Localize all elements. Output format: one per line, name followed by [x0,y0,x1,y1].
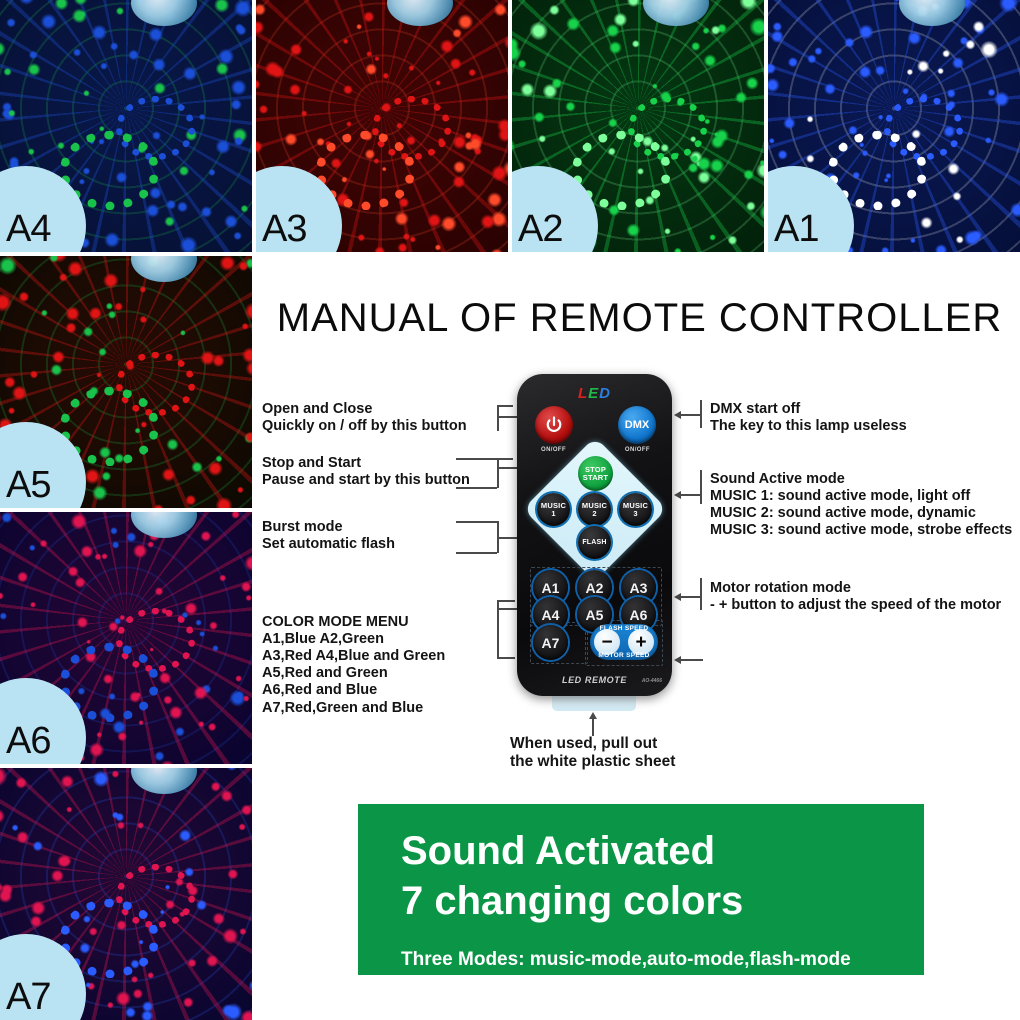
led-logo: LED [517,385,672,402]
connector-line [456,458,513,460]
annotation-heading: Open and Close [262,401,467,418]
connector-line [456,552,497,554]
annotation-detail: MUSIC 2: sound active mode, dynamic [710,505,1012,522]
power-caption: ON/OFF [541,447,566,453]
connector-line [681,659,703,661]
flash-button[interactable]: FLASH [578,526,611,559]
annotation-detail: - + button to adjust the speed of the mo… [710,597,1001,614]
color-mode-line: A1,Blue A2,Green [262,631,445,648]
dmx-caption: ON/OFF [625,447,650,453]
dmx-button[interactable]: DMX [618,406,656,444]
connector-arrow [674,656,681,664]
connector-arrow [674,411,681,419]
connector-line [497,600,515,602]
color-mode-line: A3,Red A4,Blue and Green [262,648,445,665]
connector-line [497,657,515,659]
power-button[interactable] [535,406,573,444]
caption-line: the white plastic sheet [510,753,675,771]
annotation-heading: DMX start off [710,401,907,418]
caption-line: When used, pull out [510,735,675,753]
music-2-button[interactable]: MUSIC 2 [578,493,611,526]
promo-banner: Sound Activated 7 changing colors Three … [358,804,924,975]
connector-line [456,487,497,489]
connector-line [700,400,702,428]
speed-control-group: FLASH SPEED − + MOTOR SPEED [590,624,658,660]
connector-line [681,596,700,598]
annotation-sound-active: Sound Active mode MUSIC 1: sound active … [710,471,1012,539]
connector-arrow [589,712,597,719]
power-icon [544,415,564,435]
connector-line [592,718,594,736]
annotation-motor-rotation: Motor rotation mode - + button to adjust… [710,580,1001,614]
photo-tile-a6: A6 [0,512,252,764]
connector-line [456,521,497,523]
music-number: 2 [592,510,596,518]
led-logo-l: L [578,385,588,402]
photo-tile-a7: A7 [0,768,252,1020]
music-3-button[interactable]: MUSIC 3 [619,493,652,526]
annotation-detail: Quickly on / off by this button [262,418,467,435]
pull-out-sheet-caption: When used, pull out the white plastic sh… [510,735,675,772]
connector-line [497,416,519,418]
tile-badge-label: A4 [6,210,50,248]
remote-control: LED ON/OFF DMX ON/OFF STOP START MUSIC 1… [517,374,672,696]
color-mode-line: A6,Red and Blue [262,682,445,699]
annotation-detail: Set automatic flash [262,536,395,553]
annotation-detail: MUSIC 3: sound active mode, strobe effec… [710,522,1012,539]
motor-speed-label: MOTOR SPEED [590,652,658,659]
led-logo-e: E [588,385,599,402]
connector-line [681,494,700,496]
remote-model-number: AO-4466 [642,678,662,684]
connector-arrow [674,491,681,499]
photo-tile-a1: A1 [768,0,1020,252]
color-mode-line: A5,Red and Green [262,665,445,682]
annotation-detail: Pause and start by this button [262,472,470,489]
connector-line [497,608,519,610]
music-number: 1 [551,510,555,518]
music-1-button[interactable]: MUSIC 1 [537,493,570,526]
photo-tile-a3: A3 [256,0,508,252]
page-title: MANUAL OF REMOTE CONTROLLER [262,296,1017,341]
connector-line [497,458,499,488]
annotation-open-close: Open and Close Quickly on / off by this … [262,401,467,435]
banner-line-3: Three Modes: music-mode,auto-mode,flash-… [401,949,851,971]
connector-line [700,470,702,504]
annotation-stop-start: Stop and Start Pause and start by this b… [262,455,470,489]
annotation-detail: MUSIC 1: sound active mode, light off [710,488,1012,505]
photo-tile-a4: A4 [0,0,252,252]
connector-line [497,405,499,431]
color-mode-menu-heading: COLOR MODE MENU [262,614,445,631]
annotation-heading: Motor rotation mode [710,580,1001,597]
photo-tile-a5: A5 [0,256,252,508]
connector-arrow [674,593,681,601]
tile-badge-label: A7 [6,978,50,1016]
led-logo-d: D [599,385,611,402]
connector-line [700,578,702,610]
button-a7[interactable]: A7 [533,625,568,660]
connector-line [681,414,700,416]
connector-line [497,405,513,407]
tile-badge-label: A2 [518,210,562,248]
color-mode-line: A7,Red,Green and Blue [262,700,445,717]
photo-tile-a2: A2 [512,0,764,252]
banner-line-2: 7 changing colors [401,880,743,922]
tile-badge-label: A6 [6,722,50,760]
annotation-heading: Stop and Start [262,455,470,472]
tile-badge-label: A1 [774,210,818,248]
annotation-dmx: DMX start off The key to this lamp usele… [710,401,907,435]
music-number: 3 [633,510,637,518]
annotation-burst-mode: Burst mode Set automatic flash [262,519,395,553]
color-mode-menu: COLOR MODE MENU A1,Blue A2,Green A3,Red … [262,614,445,717]
banner-line-1: Sound Activated [401,830,715,872]
annotation-heading: Burst mode [262,519,395,536]
tile-badge-label: A3 [262,210,306,248]
tile-badge-label: A5 [6,466,50,504]
annotation-heading: Sound Active mode [710,471,1012,488]
annotation-detail: The key to this lamp useless [710,418,907,435]
stop-start-line2: START [583,474,608,482]
stop-start-button[interactable]: STOP START [578,456,613,491]
